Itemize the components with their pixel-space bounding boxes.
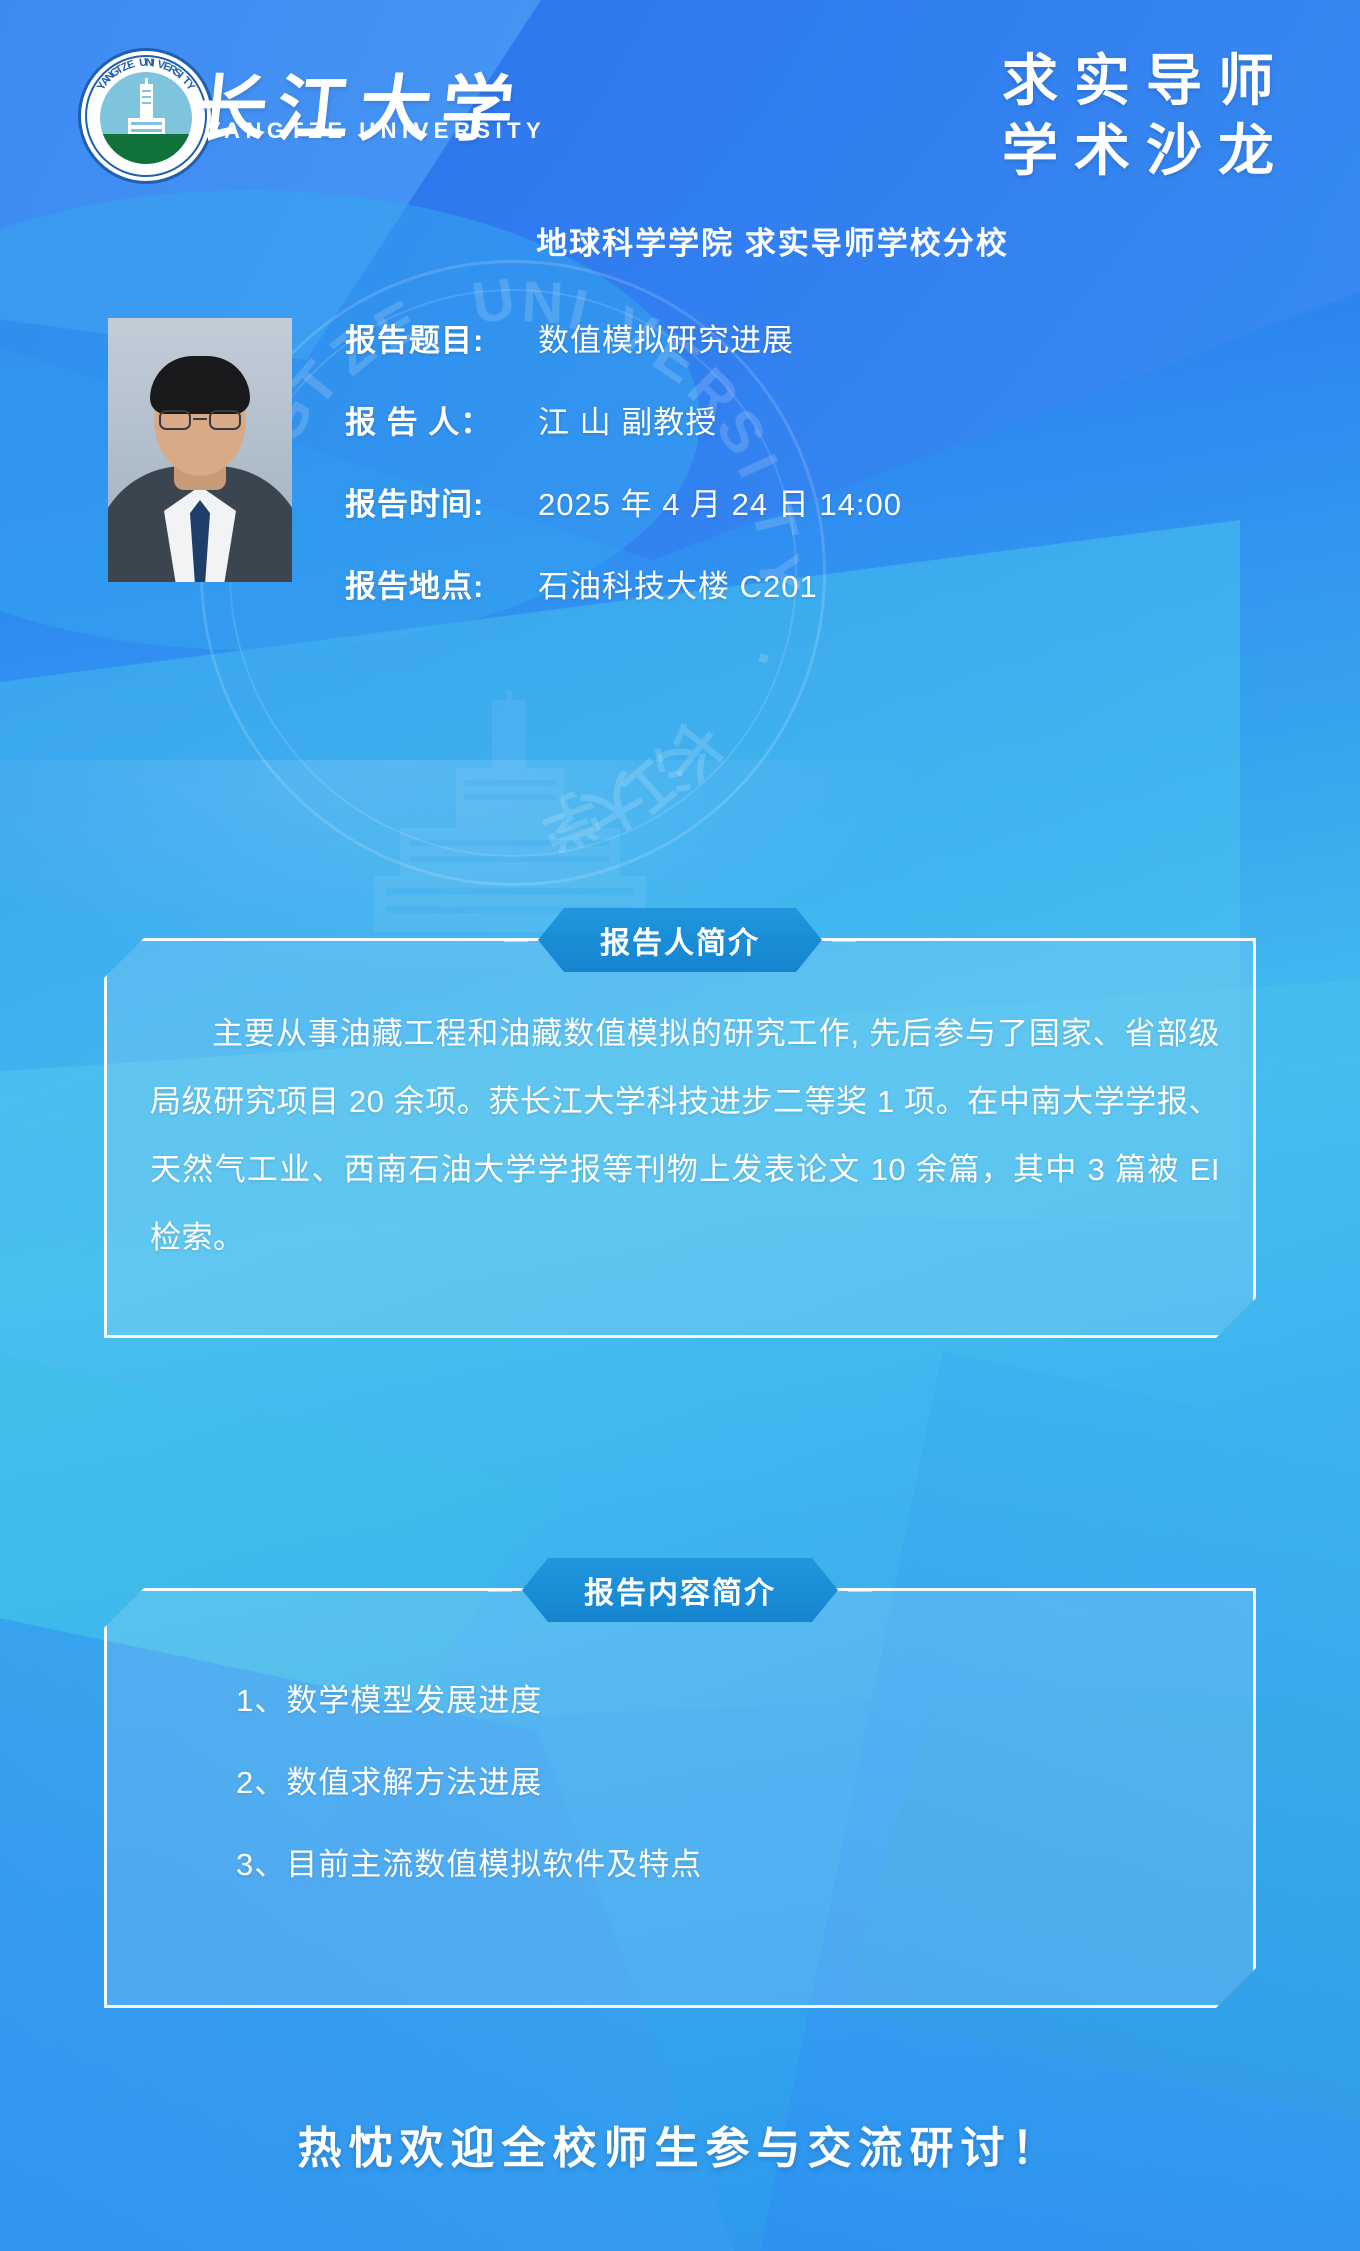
banner-tick-right xyxy=(848,1589,872,1592)
bio-banner-wrap: 报告人简介 xyxy=(0,908,1360,972)
content-list: 1、数学模型发展进度 2、数值求解方法进展 3、目前主流数值模拟软件及特点 xyxy=(236,1660,1136,1906)
content-banner-wrap: 报告内容简介 xyxy=(0,1558,1360,1622)
footer-invitation: 热忱欢迎全校师生参与交流研讨！ xyxy=(0,2112,1360,2176)
info-value-speaker: 江 山 副教授 xyxy=(538,397,717,442)
banner-tick-right xyxy=(832,939,856,942)
content-section-banner: 报告内容简介 xyxy=(522,1558,838,1622)
info-row-location: 报告地点: 石油科技大楼 C201 xyxy=(345,561,1145,643)
salon-title-line1: 求实导师 xyxy=(1002,46,1290,116)
list-item: 1、数学模型发展进度 xyxy=(236,1660,1136,1742)
info-label-location: 报告地点: xyxy=(345,561,520,606)
poster-subtitle: 地球科学学院 求实导师学校分校 xyxy=(0,218,1360,263)
bio-text: 主要从事油藏工程和油藏数值模拟的研究工作, 先后参与了国家、省部级局级研究项目 … xyxy=(150,1000,1220,1272)
info-label-title: 报告题目: xyxy=(345,315,520,360)
banner-tick-left xyxy=(488,1589,512,1592)
poster-root: YANGTZE UNIVERSITY · 长江大学 xyxy=(0,0,1360,2251)
info-label-time: 报告时间: xyxy=(345,479,520,524)
salon-title-line2: 学术沙龙 xyxy=(1002,116,1290,186)
list-item: 3、目前主流数值模拟软件及特点 xyxy=(236,1824,1136,1906)
photo-glasses xyxy=(157,410,243,430)
bio-paragraph: 主要从事油藏工程和油藏数值模拟的研究工作, 先后参与了国家、省部级局级研究项目 … xyxy=(150,1000,1220,1272)
info-label-speaker: 报 告 人： xyxy=(345,397,520,442)
banner-tick-left xyxy=(504,939,528,942)
bio-section-banner: 报告人简介 xyxy=(538,908,822,972)
list-item: 2、数值求解方法进展 xyxy=(236,1742,1136,1824)
salon-title: 求实导师 学术沙龙 xyxy=(1002,46,1290,186)
info-value-time: 2025 年 4 月 24 日 14:00 xyxy=(538,479,902,524)
talk-info-block: 报告题目: 数值模拟研究进展 报 告 人： 江 山 副教授 报告时间: 2025… xyxy=(345,315,1145,643)
speaker-photo xyxy=(108,318,292,582)
info-value-title: 数值模拟研究进展 xyxy=(538,315,794,360)
university-name-en: YANGTZE UNIVERSITY xyxy=(206,118,546,144)
info-row-speaker: 报 告 人： 江 山 副教授 xyxy=(345,397,1145,479)
info-value-location: 石油科技大楼 C201 xyxy=(538,561,818,606)
info-row-title: 报告题目: 数值模拟研究进展 xyxy=(345,315,1145,397)
info-row-time: 报告时间: 2025 年 4 月 24 日 14:00 xyxy=(345,479,1145,561)
